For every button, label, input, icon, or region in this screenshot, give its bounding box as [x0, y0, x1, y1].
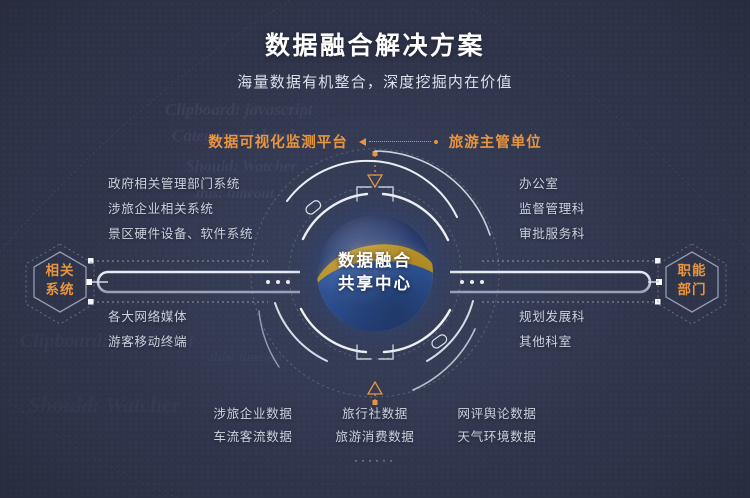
- bottom-row-1: 涉旅企业数据 旅行社数据 网评舆论数据: [203, 403, 547, 422]
- center-label: 数据融合 共享中心: [317, 215, 433, 331]
- list-item: 涉旅企业相关系统: [108, 197, 253, 222]
- list-item: 游客移动终端: [108, 330, 187, 355]
- infographic-canvas: Clipboard: javascript Category: deleted …: [0, 0, 750, 498]
- hex-right-line2: 部门: [678, 280, 707, 299]
- list-item: 车流客流数据: [203, 426, 303, 445]
- bottom-ellipsis: ······: [354, 453, 396, 467]
- list-item: 政府相关管理部门系统: [108, 172, 253, 197]
- center-label-line1: 数据融合: [338, 250, 412, 273]
- right-column-top: 办公室 监督管理科 审批服务科: [519, 172, 585, 247]
- right-column-bottom: 规划发展科 其他科室: [519, 305, 585, 355]
- hexagon-related-systems[interactable]: 相关 系统: [14, 228, 106, 332]
- list-item: 规划发展科: [519, 305, 585, 330]
- bottom-data-grid: 涉旅企业数据 旅行社数据 网评舆论数据 车流客流数据 旅游消费数据 天气环境数据…: [0, 403, 750, 467]
- list-item: 天气环境数据: [447, 426, 547, 445]
- list-item: 审批服务科: [519, 222, 585, 247]
- list-item: 各大网络媒体: [108, 305, 187, 330]
- list-item: 旅行社数据: [325, 403, 425, 422]
- list-item: 网评舆论数据: [447, 403, 547, 422]
- list-item: 办公室: [519, 172, 585, 197]
- center-label-line2: 共享中心: [338, 273, 412, 296]
- hex-left-line2: 系统: [46, 280, 75, 299]
- list-item: 景区硬件设备、软件系统: [108, 222, 253, 247]
- list-item: 涉旅企业数据: [203, 403, 303, 422]
- hex-left-line1: 相关: [46, 261, 75, 280]
- bottom-row-2: 车流客流数据 旅游消费数据 天气环境数据: [203, 426, 547, 445]
- hex-right-line1: 职能: [678, 261, 707, 280]
- left-column-top: 政府相关管理部门系统 涉旅企业相关系统 景区硬件设备、软件系统: [108, 172, 253, 247]
- left-column-bottom: 各大网络媒体 游客移动终端: [108, 305, 187, 355]
- hexagon-functional-departments[interactable]: 职能 部门: [646, 228, 738, 332]
- list-item: 其他科室: [519, 330, 585, 355]
- list-item: 旅游消费数据: [325, 426, 425, 445]
- list-item: 监督管理科: [519, 197, 585, 222]
